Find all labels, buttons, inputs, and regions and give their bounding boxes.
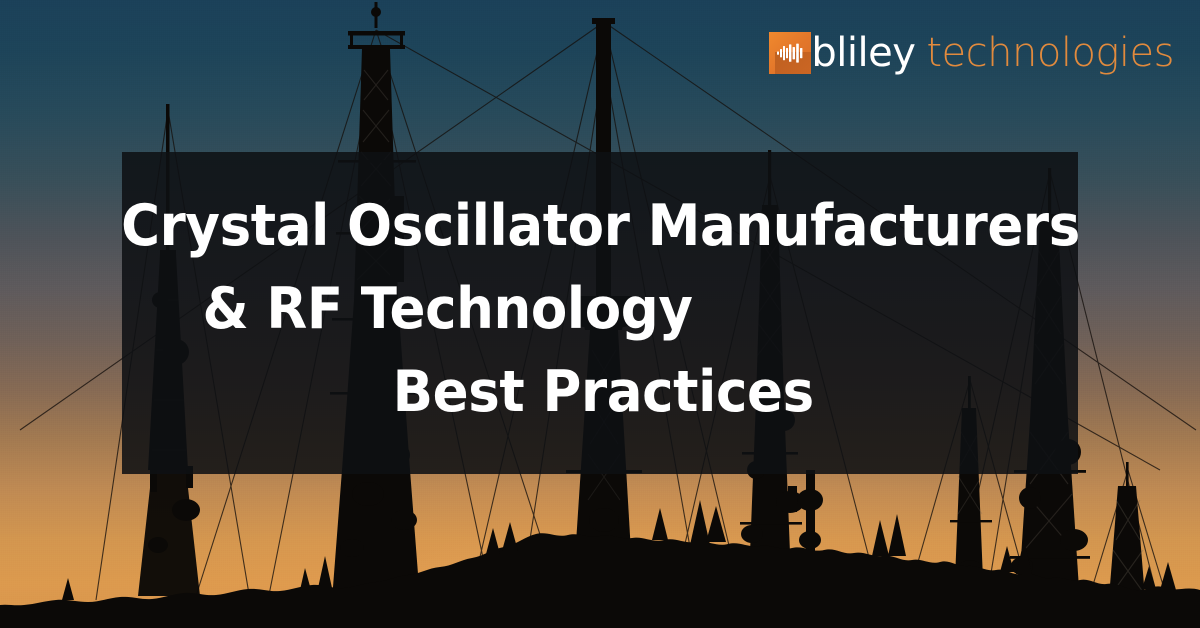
logo-brand-secondary: technologies: [926, 30, 1174, 76]
title-line-3: Best Practices: [387, 351, 814, 434]
logo-brand-primary: bliley: [811, 30, 915, 76]
logo-wordmark: blileytechnologies: [811, 32, 1174, 74]
title-line-1: Crystal Oscillator Manufacturers: [121, 185, 1080, 268]
blog-header-banner: blileytechnologies Crystal Oscillator Ma…: [0, 0, 1200, 628]
title-overlay-panel: Crystal Oscillator Manufacturers & RF Te…: [122, 152, 1078, 474]
waveform-equalizer-icon: [769, 32, 811, 74]
bliley-logo[interactable]: blileytechnologies: [769, 32, 1174, 74]
title-line-2: & RF Technology: [202, 268, 692, 351]
